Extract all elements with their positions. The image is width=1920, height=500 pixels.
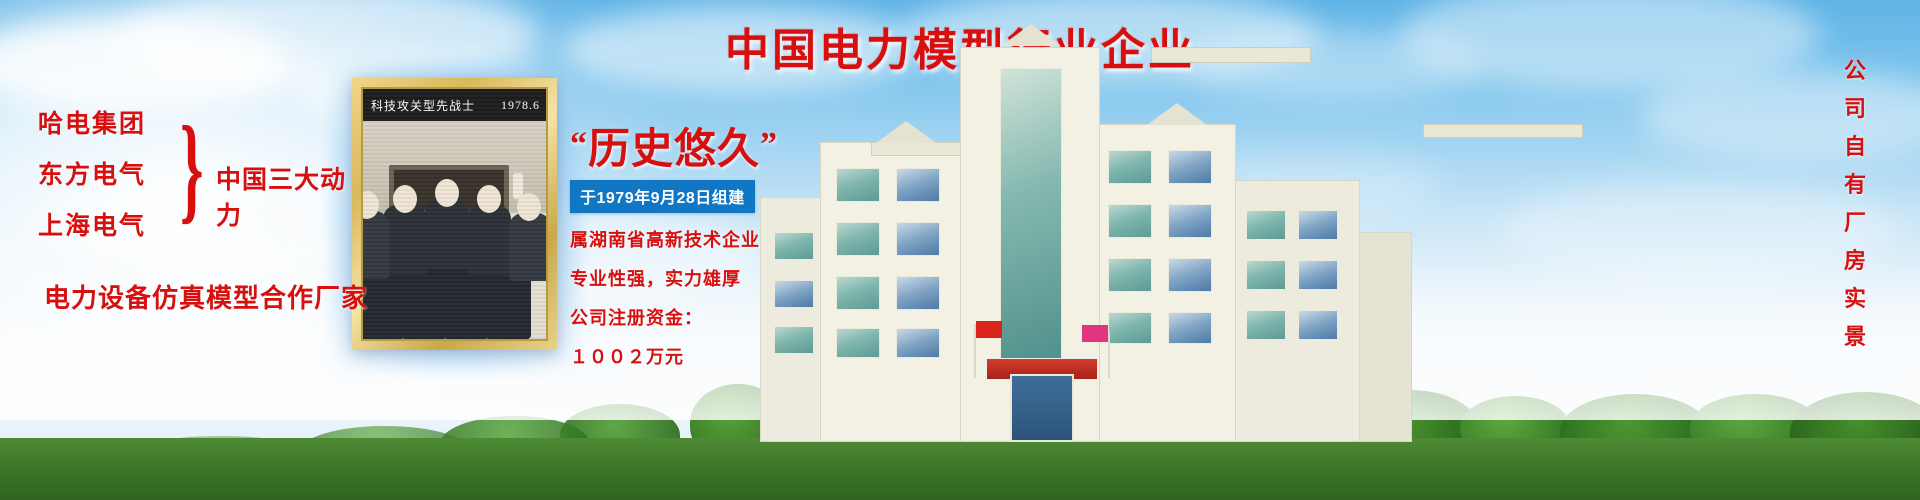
quote-close-icon: ” (760, 126, 778, 163)
vertical-char: 自 (1832, 128, 1878, 166)
left-text-block: 哈电集团 东方电气 上海电气 } 中国三大动力 (38, 112, 368, 265)
roof-cap (876, 121, 936, 143)
vertical-char: 房 (1832, 242, 1878, 280)
grass-ground (0, 438, 1920, 500)
stairwell-glass (1000, 68, 1062, 368)
window-grid-left (832, 162, 958, 362)
building-block (1356, 232, 1412, 442)
window-grid-far-right (1242, 202, 1352, 362)
roof (1423, 124, 1583, 138)
factory-building (760, 42, 1410, 442)
vertical-char: 厂 (1832, 204, 1878, 242)
cloud (1640, 70, 1920, 160)
three-power-label: 中国三大动力 (216, 160, 368, 232)
quote-open-icon: “ (570, 126, 588, 163)
main-entrance (1010, 374, 1074, 442)
brand-list: 哈电集团 东方电气 上海电气 } 中国三大动力 (38, 112, 368, 239)
curly-brace-icon: } (180, 108, 203, 228)
vertical-char: 景 (1832, 318, 1878, 356)
roof-cap (1001, 24, 1061, 46)
vertical-char: 有 (1832, 166, 1878, 204)
headline-row: “历史悠久” (570, 128, 800, 170)
window-grid-far-left (768, 222, 824, 362)
flag (1082, 325, 1108, 342)
roof-cap (1147, 103, 1207, 125)
left-tagline: 电力设备仿真模型合作厂家 (44, 278, 368, 315)
window-grid-right (1104, 144, 1230, 362)
historic-photo-frame: 科技攻关型先战士 1978.6 (352, 78, 557, 350)
founding-date-ribbon: 于1979年9月28日组建 (570, 180, 755, 213)
right-vertical-text: 公 司 自 有 厂 房 实 景 (1832, 52, 1878, 356)
roof (1151, 47, 1311, 63)
vertical-char: 公 (1832, 52, 1878, 90)
historic-photo: 科技攻关型先战士 1978.6 (361, 87, 548, 341)
vertical-char: 实 (1832, 280, 1878, 318)
flag (976, 321, 1002, 338)
promo-banner: 科技攻关型先战士 1978.6 (0, 0, 1920, 500)
photo-grain (363, 89, 546, 339)
headline-text: 历史悠久 (588, 125, 760, 172)
vertical-char: 司 (1832, 90, 1878, 128)
